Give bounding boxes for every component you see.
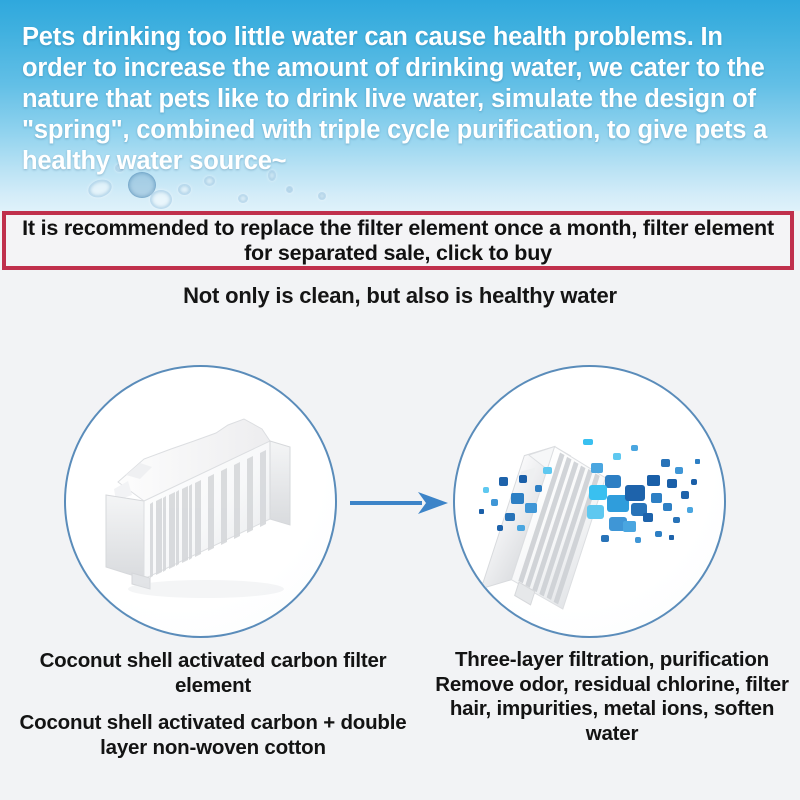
subtitle-text: Not only is clean, but also is healthy w… — [0, 283, 800, 309]
feature-image-coconut-shell-carbon — [64, 365, 337, 638]
caption-secondary-left: Coconut shell activated carbon + double … — [8, 710, 418, 760]
caption-primary-left: Coconut shell activated carbon filter el… — [8, 648, 418, 698]
caption-block-left: Coconut shell activated carbon filter el… — [8, 648, 418, 760]
water-droplet-icon — [178, 184, 191, 195]
water-droplet-icon — [286, 186, 293, 193]
arrow-right-icon — [348, 490, 454, 516]
filter-cartridge-icon — [66, 367, 337, 638]
hero-banner: Pets drinking too little water can cause… — [0, 0, 800, 211]
caption-block-right: Three-layer filtration, purification Rem… — [432, 648, 792, 746]
water-droplet-icon — [150, 190, 172, 209]
caption-primary-right: Three-layer filtration, purification — [432, 648, 792, 673]
water-particles-outlet — [583, 439, 700, 543]
water-droplet-icon — [86, 177, 114, 201]
banner-headline: Pets drinking too little water can cause… — [22, 22, 784, 177]
notice-text: It is recommended to replace the filter … — [6, 216, 790, 266]
filter-cartridge-with-water-icon — [455, 367, 726, 638]
water-droplet-icon — [238, 194, 248, 203]
caption-secondary-right: Remove odor, residual chlorine, filter h… — [432, 673, 792, 747]
product-marketing-image: Pets drinking too little water can cause… — [0, 0, 800, 800]
water-droplet-icon — [204, 176, 215, 186]
water-droplet-icon — [318, 192, 326, 200]
feature-image-three-layer-filtration — [453, 365, 726, 638]
process-arrow — [348, 490, 454, 516]
caption-spacer — [8, 698, 418, 710]
replace-filter-notice-box[interactable]: It is recommended to replace the filter … — [2, 211, 794, 270]
